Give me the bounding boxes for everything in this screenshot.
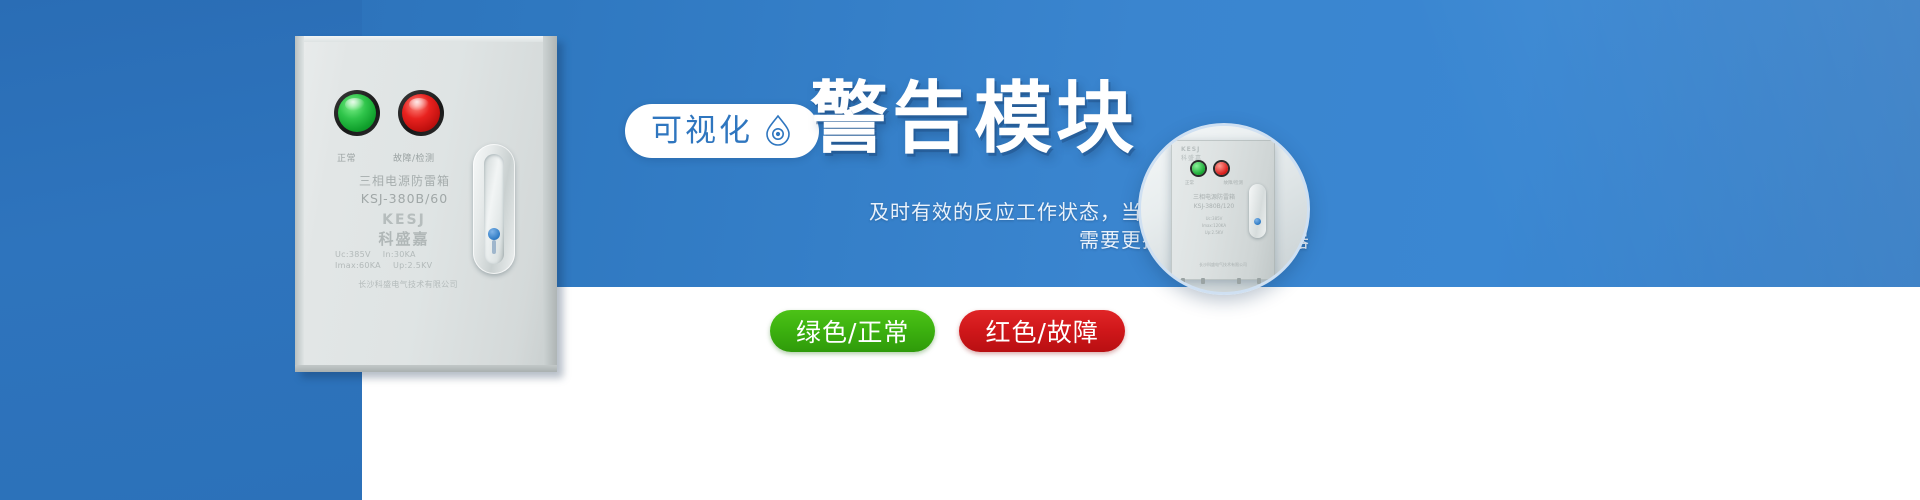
lamp-highlight-icon	[345, 98, 365, 111]
inset-brand-cn: 科盛嘉	[1181, 153, 1202, 162]
device-edge-left	[295, 36, 304, 372]
device-label-fault: 故障/检测	[393, 151, 435, 164]
device-product-name: 三相电源防雷箱	[337, 172, 472, 189]
device-label-normal: 正常	[337, 151, 356, 164]
inset-brand-en: KESJ	[1181, 146, 1200, 153]
device-spec-in: In:30KA	[383, 250, 416, 259]
inset-device-enclosure: KESJ 科盛嘉 正常 故障/检测 三相电源防雷箱 KSJ-380B/120 U…	[1171, 140, 1275, 280]
device-edge-top	[295, 36, 557, 42]
device-door-handle	[473, 144, 515, 274]
device-edge-bottom	[295, 365, 557, 372]
inset-foot-icon	[1237, 278, 1241, 284]
visualization-pill-badge: 可视化	[625, 104, 819, 158]
handle-keyhole-icon	[492, 240, 496, 254]
status-badge-group: 绿色/正常 红色/故障	[770, 310, 1125, 352]
device-edge-right	[543, 36, 557, 372]
device-spec-row: Uc:385V In:30KA	[335, 250, 485, 259]
status-badge-fault[interactable]: 红色/故障	[959, 310, 1124, 352]
inset-foot-icon	[1181, 278, 1185, 284]
inset-green-lamp	[1192, 162, 1205, 175]
device-enclosure: 正常 故障/检测 三相电源防雷箱 KSJ-380B/60 KESJ 科盛嘉 Uc…	[295, 36, 557, 372]
circular-inset-photo: KESJ 科盛嘉 正常 故障/检测 三相电源防雷箱 KSJ-380B/120 U…	[1138, 123, 1310, 295]
inset-foot-icon	[1257, 278, 1261, 284]
inset-lamp-labels: 正常 故障/检测	[1185, 180, 1243, 186]
device-model: KSJ-380B/60	[337, 191, 472, 206]
banner-stage: 正常 故障/检测 三相电源防雷箱 KSJ-380B/60 KESJ 科盛嘉 Uc…	[0, 0, 1920, 500]
inset-label-normal: 正常	[1185, 180, 1194, 186]
inset-spec-up: Up:2.5KV	[1183, 230, 1245, 235]
device-spec-imax: Imax:60KA	[335, 261, 381, 270]
visualization-pill-label: 可视化	[651, 116, 753, 147]
inset-company-name: 长沙科盛电气技术有限公司	[1178, 262, 1268, 268]
inset-spec-uc: Uc:385V	[1183, 216, 1245, 221]
eye-diamond-icon	[763, 114, 793, 148]
inset-door-handle	[1249, 184, 1266, 238]
inset-red-lamp	[1215, 162, 1228, 175]
inset-handle-dot-icon	[1254, 218, 1261, 225]
product-device-image: 正常 故障/检测 三相电源防雷箱 KSJ-380B/60 KESJ 科盛嘉 Uc…	[295, 36, 557, 372]
inset-model: KSJ-380B/120	[1183, 203, 1245, 210]
device-company-name: 长沙科盛电气技术有限公司	[323, 279, 493, 290]
device-brand-cn: 科盛嘉	[343, 228, 465, 249]
inset-product-name: 三相电源防雷箱	[1183, 192, 1245, 201]
handle-lock-dot-icon	[488, 228, 500, 240]
device-brand-en: KESJ	[343, 212, 465, 228]
inset-label-fault: 故障/检测	[1223, 180, 1243, 186]
red-indicator-lamp	[402, 94, 440, 132]
inset-device-feet	[1177, 278, 1269, 284]
status-badge-normal[interactable]: 绿色/正常	[770, 310, 935, 352]
device-spec-uc: Uc:385V	[335, 250, 371, 259]
lamp-highlight-icon	[409, 98, 429, 111]
device-spec-up: Up:2.5KV	[393, 261, 432, 270]
banner-headline: 警告模块	[810, 80, 1138, 158]
inset-foot-icon	[1201, 278, 1205, 284]
device-spec-row: Imax:60KA Up:2.5KV	[335, 261, 485, 270]
inset-spec-imax: Imax:120KA	[1183, 223, 1245, 228]
green-indicator-lamp	[338, 94, 376, 132]
